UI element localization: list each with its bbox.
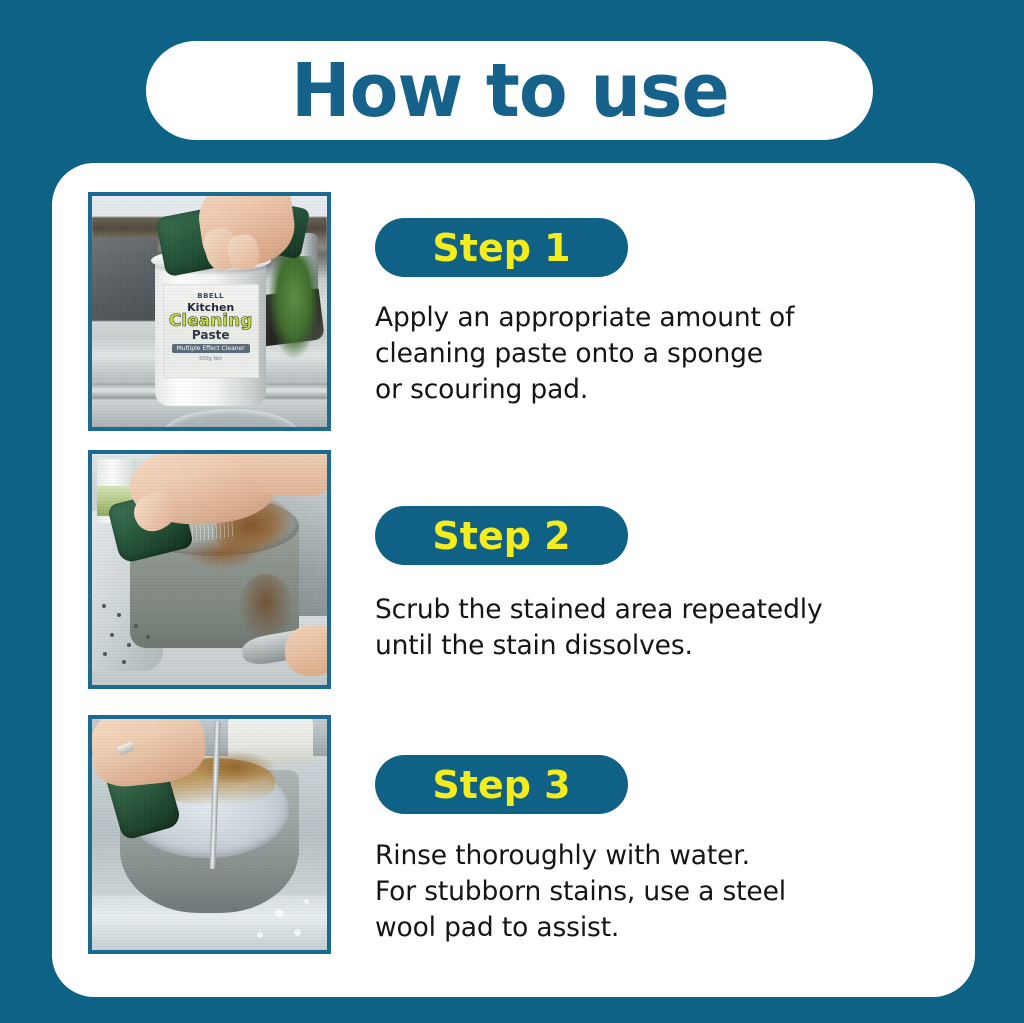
product-brand: BBELL bbox=[197, 292, 224, 300]
poster-root: How to use BBELL K bbox=[0, 0, 1024, 1023]
step-2-badge-label: Step 2 bbox=[432, 517, 570, 555]
step-3-photo bbox=[88, 715, 331, 954]
step-2-body: Step 2 Scrub the stained area repeatedly… bbox=[375, 506, 955, 664]
product-tagline: Multiple Effect Cleaner bbox=[172, 344, 250, 353]
step-3-badge: Step 3 bbox=[375, 755, 628, 814]
page-title: How to use bbox=[291, 54, 729, 128]
product-line-2: Cleaning bbox=[169, 313, 253, 329]
step-1-badge-label: Step 1 bbox=[432, 229, 570, 267]
product-line-3: Paste bbox=[192, 329, 230, 341]
step-2-photo bbox=[88, 450, 331, 689]
step-3-body: Step 3 Rinse thoroughly with water. For … bbox=[375, 755, 955, 946]
step-3-description: Rinse thoroughly with water. For stubbor… bbox=[375, 838, 955, 946]
step-1-photo: BBELL Kitchen Cleaning Paste Multiple Ef… bbox=[88, 192, 331, 431]
step-1-badge: Step 1 bbox=[375, 218, 628, 277]
sink-holes bbox=[97, 597, 182, 676]
step-2-badge: Step 2 bbox=[375, 506, 628, 565]
product-weight: 500g Net bbox=[199, 356, 222, 362]
steps-card: BBELL Kitchen Cleaning Paste Multiple Ef… bbox=[52, 163, 975, 997]
step-2-description: Scrub the stained area repeatedly until … bbox=[375, 592, 955, 664]
step-1-body: Step 1 Apply an appropriate amount of cl… bbox=[375, 218, 955, 408]
title-pill: How to use bbox=[146, 41, 873, 140]
step-1-description: Apply an appropriate amount of cleaning … bbox=[375, 300, 955, 408]
product-label: BBELL Kitchen Cleaning Paste Multiple Ef… bbox=[163, 284, 259, 379]
step-3-badge-label: Step 3 bbox=[432, 766, 570, 804]
